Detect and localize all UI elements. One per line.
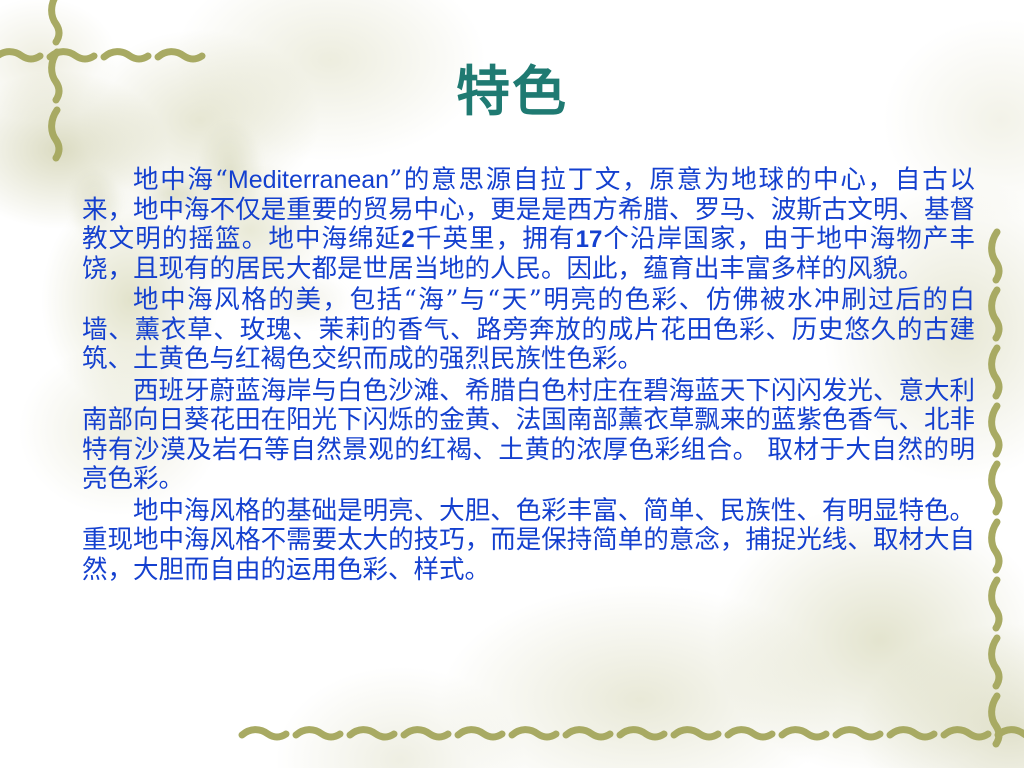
- wavy-dash-horizontal-bottom-icon: [240, 720, 1024, 746]
- inline-number: 2: [401, 226, 414, 253]
- slide-title: 特色: [0, 62, 1024, 121]
- paragraph: 地中海风格的美，包括“海”与“天”明亮的色彩、仿佛被水冲刷过后的白墙、薰衣草、玫…: [82, 286, 975, 375]
- paragraph: 西班牙蔚蓝海岸与白色沙滩、希腊白色村庄在碧海蓝天下闪闪发光、意大利南部向日葵花田…: [82, 377, 975, 495]
- slide-canvas: 特色 地中海“Mediterranean”的意思源自拉丁文，原意为地球的中心，自…: [0, 0, 1024, 768]
- paragraph: 地中海风格的基础是明亮、大胆、色彩丰富、简单、民族性、有明显特色。重现地中海风格…: [82, 497, 975, 586]
- body-text-block: 地中海“Mediterranean”的意思源自拉丁文，原意为地球的中心，自古以来…: [82, 166, 975, 587]
- inline-latin-term: Mediterranean: [228, 166, 389, 194]
- paragraph: 地中海“Mediterranean”的意思源自拉丁文，原意为地球的中心，自古以来…: [82, 166, 975, 284]
- inline-number: 17: [576, 226, 603, 253]
- wavy-dash-vertical-right-icon: [984, 230, 1010, 750]
